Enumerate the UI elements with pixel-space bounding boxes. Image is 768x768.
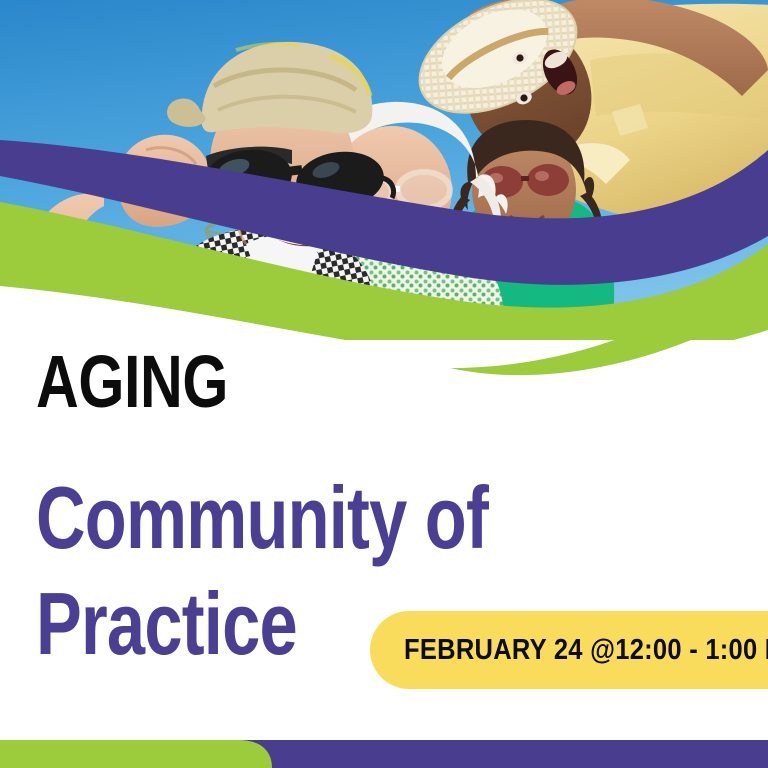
page-title-line-1: Community of xyxy=(36,472,582,564)
footer-bar-shapes xyxy=(0,740,768,768)
event-date-badge: FEBRUARY 24 @12:00 - 1:00 PM xyxy=(370,611,768,689)
poster-canvas: AGING Community of Practice FEBRUARY 24 … xyxy=(0,0,768,768)
hero-photo xyxy=(0,0,768,340)
page-kicker: AGING xyxy=(36,348,596,416)
event-date-text: FEBRUARY 24 @12:00 - 1:00 PM xyxy=(404,634,768,667)
footer-green-segment xyxy=(0,740,272,768)
footer-bar xyxy=(0,740,768,768)
hero-photo-illustration xyxy=(0,0,768,340)
